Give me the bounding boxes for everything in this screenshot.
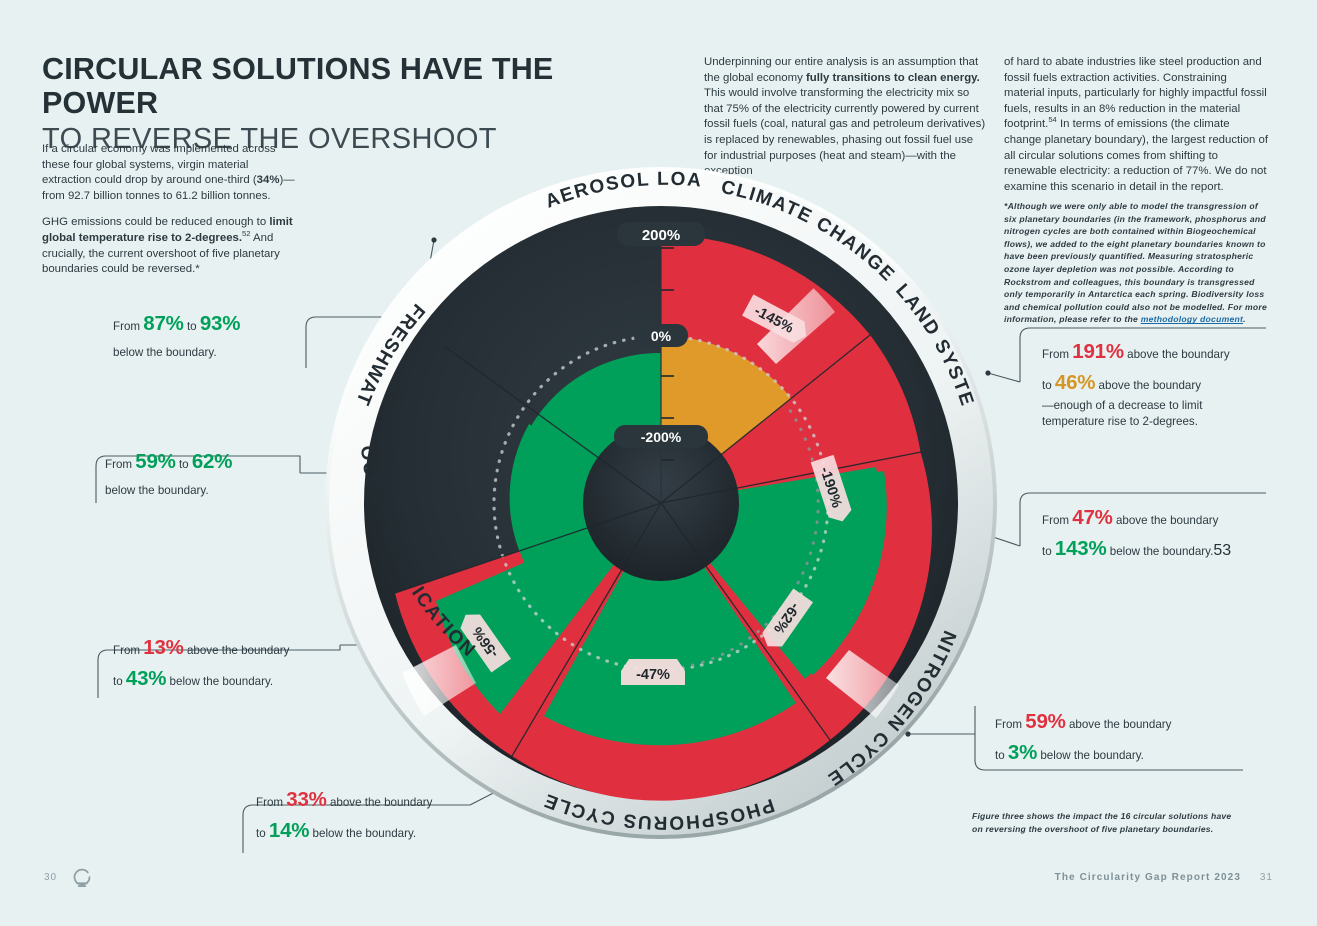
report-name: The Circularity Gap Report 2023 (1055, 872, 1241, 883)
metric-text: to (113, 675, 126, 688)
callout-line-1: From 13% above the boundary (113, 636, 289, 660)
right-paragraph-1: of hard to abate industries like steel p… (1004, 55, 1270, 195)
planetary-boundaries-dial: 200% 0% -200% -145% -190% -62 (316, 158, 1006, 848)
metric-value: 3% (1008, 741, 1037, 764)
callout-phosphorus-cycle: From 33% above the boundary to 14% below… (256, 788, 432, 843)
callout-land-system-change: From 47% above the boundary to 143% belo… (1042, 506, 1231, 561)
metric-text: From (995, 718, 1025, 731)
metric-text: From (256, 796, 286, 809)
methodology-footnote: *Although we were only able to model the… (1004, 200, 1268, 326)
page-title: CIRCULAR SOLUTIONS HAVE THE POWER TO REV… (42, 52, 662, 157)
callout-line-2: below the boundary. (105, 481, 232, 499)
callout-line-3: —enough of a decrease to limit (1042, 399, 1230, 412)
metric-text: to (176, 458, 192, 471)
callout-line-1: From 87% to 93% (113, 312, 240, 336)
tick-label-200: 200% (642, 227, 680, 244)
metric-text: above the boundary (1113, 514, 1219, 527)
metric-text: below the boundary. (166, 675, 273, 688)
circularity-gap-logo-icon (72, 866, 92, 888)
callout-line-2: to 14% below the boundary. (256, 819, 432, 843)
metric-value: 191% (1072, 340, 1124, 363)
callout-ocean-acidification-lower: From 13% above the boundary to 43% below… (113, 636, 289, 691)
metric-text: to (995, 749, 1008, 762)
metric-text: From (1042, 514, 1072, 527)
metric-value: 93% (200, 312, 240, 335)
metric-value: 87% (143, 312, 183, 335)
callout-line-2: to 3% below the boundary. (995, 741, 1171, 765)
metric-text: From (1042, 348, 1072, 361)
callout-line-2: to 46% above the boundary (1042, 371, 1230, 395)
left-paragraph-1: If a circular economy was implemented ac… (42, 142, 300, 204)
metric-text: From (113, 320, 143, 333)
metric-value: 143% (1055, 537, 1107, 560)
callout-line-2: to 143% below the boundary.53 (1042, 537, 1231, 561)
metric-value: 59% (135, 450, 175, 473)
metric-text: From (113, 644, 143, 657)
metric-text: above the boundary (327, 796, 433, 809)
callout-nitrogen-cycle: From 59% above the boundary to 3% below … (995, 710, 1171, 765)
metric-text: to (184, 320, 200, 333)
tick-label-0: 0% (651, 328, 672, 344)
intro-column-right: of hard to abate industries like steel p… (1004, 55, 1270, 206)
metric-text: 53 (1213, 542, 1231, 559)
infographic-page: CIRCULAR SOLUTIONS HAVE THE POWER TO REV… (0, 0, 1317, 926)
metric-value: 59% (1025, 710, 1065, 733)
methodology-document-link[interactable]: methodology document (1141, 314, 1243, 324)
callout-line-1: From 59% to 62% (105, 450, 232, 474)
page-number-left: 30 (44, 872, 57, 883)
metric-text: From (105, 458, 135, 471)
page-number-right: 31 (1260, 872, 1273, 883)
callout-line-2: to 43% below the boundary. (113, 667, 289, 691)
metric-value: 62% (192, 450, 232, 473)
metric-text: below the boundary. (1107, 545, 1214, 558)
metric-text: above the boundary (1095, 379, 1201, 392)
callout-line-1: From 191% above the boundary (1042, 340, 1230, 364)
metric-text: above the boundary (184, 644, 290, 657)
metric-text: to (256, 827, 269, 840)
metric-text: to (1042, 545, 1055, 558)
left-paragraph-2: GHG emissions could be reduced enough to… (42, 215, 300, 277)
tick-label-minus200: -200% (641, 429, 682, 445)
metric-value: 14% (269, 819, 309, 842)
callout-climate-change: From 191% above the boundary to 46% abov… (1042, 340, 1230, 428)
metric-value: 33% (286, 788, 326, 811)
callout-line-1: From 59% above the boundary (995, 710, 1171, 734)
metric-text: to (1042, 379, 1055, 392)
intro-column-left: If a circular economy was implemented ac… (42, 142, 300, 289)
callout-line-1: From 47% above the boundary (1042, 506, 1231, 530)
metric-text: below the boundary. (1037, 749, 1144, 762)
metric-value: 43% (126, 667, 166, 690)
metric-text: below the boundary. (309, 827, 416, 840)
figure-caption: Figure three shows the impact the 16 cir… (972, 810, 1242, 835)
callout-line-2: below the boundary. (113, 343, 240, 361)
metric-value: 46% (1055, 371, 1095, 394)
callout-ocean-acidification-upper: From 59% to 62% below the boundary. (105, 450, 232, 499)
title-line-1: CIRCULAR SOLUTIONS HAVE THE POWER (42, 52, 662, 120)
metric-text: below the boundary. (105, 484, 209, 497)
metric-text: below the boundary. (113, 346, 217, 359)
metric-text: above the boundary (1124, 348, 1230, 361)
metric-value: 47% (1072, 506, 1112, 529)
callout-line-1: From 33% above the boundary (256, 788, 432, 812)
callout-freshwater-use: From 87% to 93% below the boundary. (113, 312, 240, 361)
metric-text: above the boundary (1066, 718, 1172, 731)
metric-value: 13% (143, 636, 183, 659)
callout-line-4: temperature rise to 2-degrees. (1042, 415, 1230, 428)
delta-phosphorus: -47% (636, 667, 670, 683)
